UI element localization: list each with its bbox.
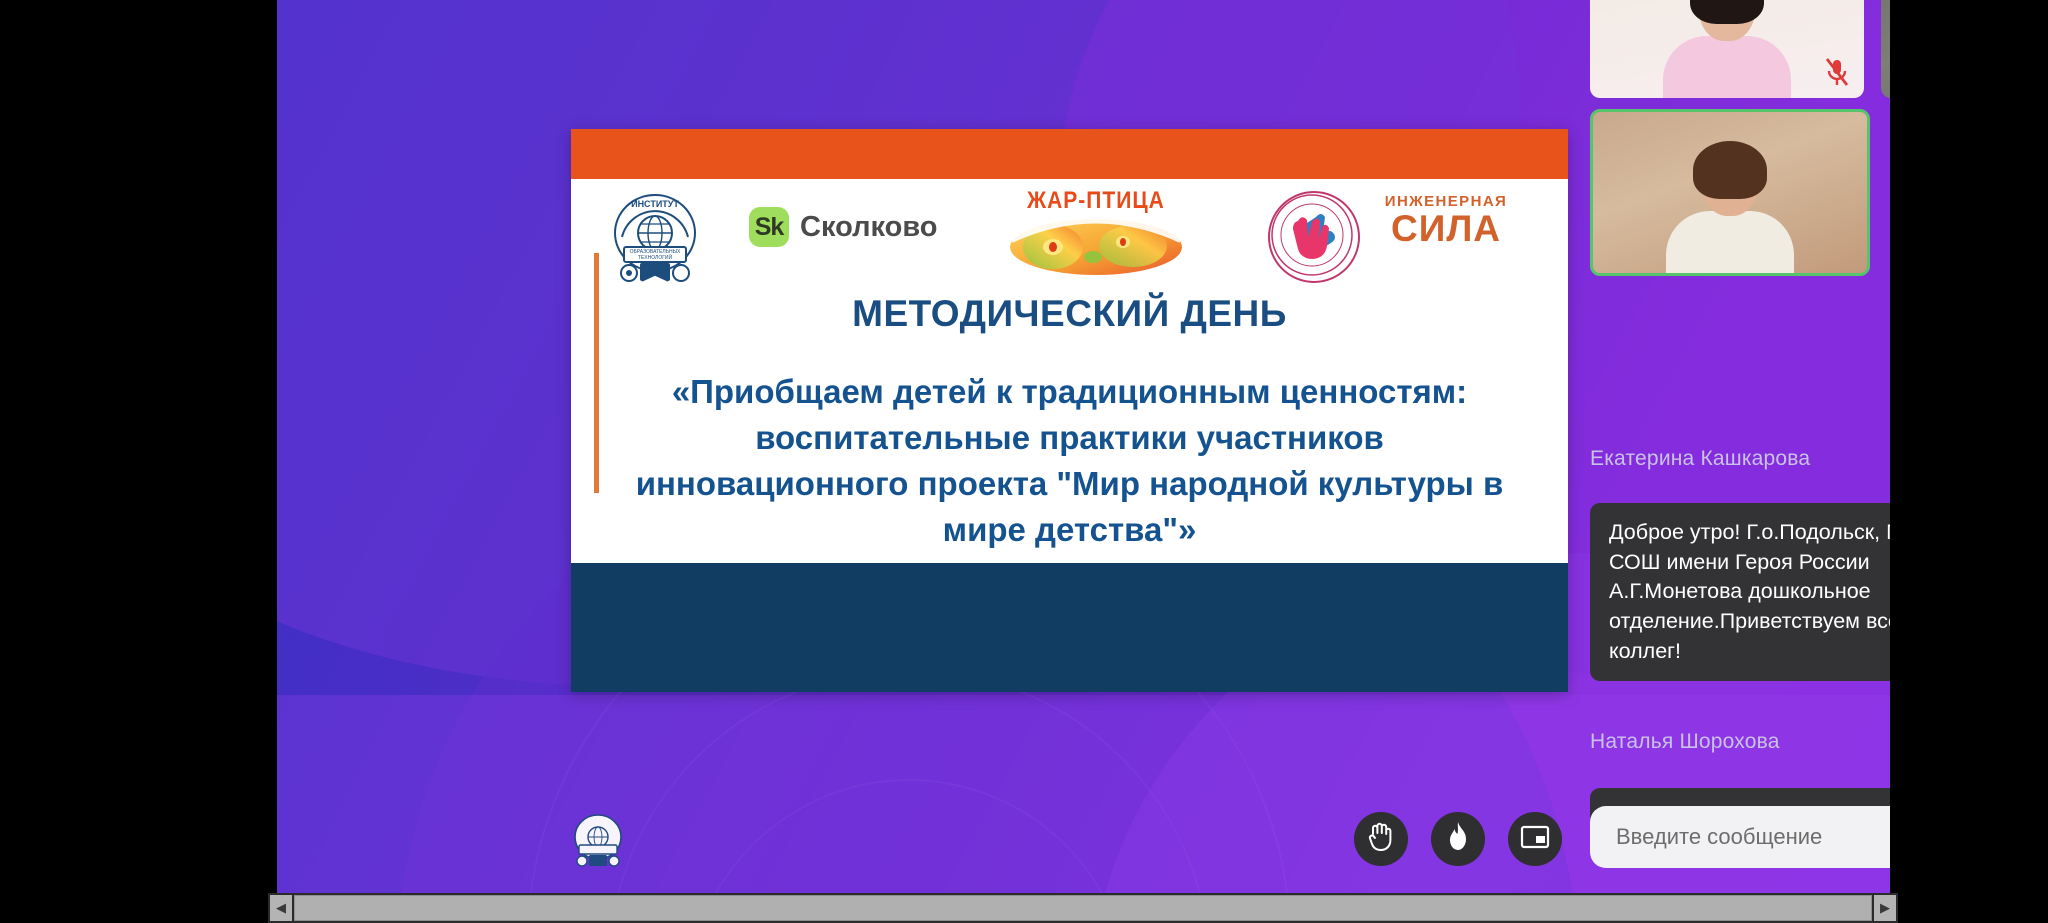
avatar-torso [1663,36,1791,98]
svg-text:ИНСТИТУТ: ИНСТИТУТ [631,199,679,209]
participant-avatar [1666,150,1794,273]
hand-icon [1366,821,1396,858]
svg-text:ТЕХНОЛОГИЙ: ТЕХНОЛОГИЙ [638,253,673,261]
participant-tile-2[interactable] [1881,0,1890,98]
participant-tile-3[interactable] [1590,109,1870,276]
institute-watermark [570,812,626,870]
tsvetnoy-mir-logo [1268,191,1360,283]
inzhenernaya-sila-main-label: СИЛА [1376,210,1516,249]
horizontal-scrollbar[interactable]: ◀ ▶ [268,893,1898,923]
institute-emblem-icon: ОБРАЗОВАТЕЛЬНЫХ ТЕХНОЛОГИЙ ИНСТИТУТ [608,189,703,287]
slide-subheading: «Приобщаем детей к традиционным ценностя… [631,369,1508,552]
conference-stage: ОБРАЗОВАТЕЛЬНЫХ ТЕХНОЛОГИЙ ИНСТИТУТ Sk С… [277,0,1890,893]
scrollbar-thumb[interactable] [294,895,1872,921]
avatar-torso [1666,211,1794,273]
chat-message-1: Доброе утро! Г.о.Подольск, МОУ СОШ имени… [1590,503,1890,681]
inzhenernaya-sila-logo: ИНЖЕНЕРНАЯ СИЛА [1376,193,1516,249]
slide-accent-line [594,253,599,493]
zhar-ptitsa-label: ЖАР-ПТИЦА [1001,187,1191,215]
participant-avatar [1663,0,1791,98]
slide-heading: МЕТОДИЧЕСКИЙ ДЕНЬ [571,293,1568,335]
message-composer[interactable] [1590,806,1890,868]
skolkovo-badge: Sk [749,207,789,247]
raise-hand-button[interactable] [1354,812,1408,866]
chat-author-1: Екатерина Кашкарова [1590,447,1810,471]
scroll-left-arrow[interactable]: ◀ [270,895,292,921]
skolkovo-label: Сколково [800,211,938,244]
message-input[interactable] [1614,823,1890,851]
scroll-right-arrow[interactable]: ▶ [1874,895,1896,921]
pip-icon [1520,824,1550,855]
zhar-ptitsa-logo: ЖАР-ПТИЦА [1001,189,1191,277]
picture-in-picture-button[interactable] [1508,812,1562,866]
chat-author-2: Наталья Шорохова [1590,730,1780,754]
reaction-button[interactable] [1431,812,1485,866]
flame-icon [1445,821,1471,858]
microphone-muted-icon [1824,58,1850,88]
shared-presentation-slide[interactable]: ОБРАЗОВАТЕЛЬНЫХ ТЕХНОЛОГИЙ ИНСТИТУТ Sk С… [571,129,1568,692]
slide-bottom-bar [571,563,1568,692]
avatar-hair [1693,141,1767,199]
screen-root: ОБРАЗОВАТЕЛЬНЫХ ТЕХНОЛОГИЙ ИНСТИТУТ Sk С… [0,0,2048,923]
skolkovo-logo: Sk Сколково [749,207,938,247]
slide-top-bar [571,129,1568,179]
participant-tile-1[interactable] [1590,0,1864,98]
